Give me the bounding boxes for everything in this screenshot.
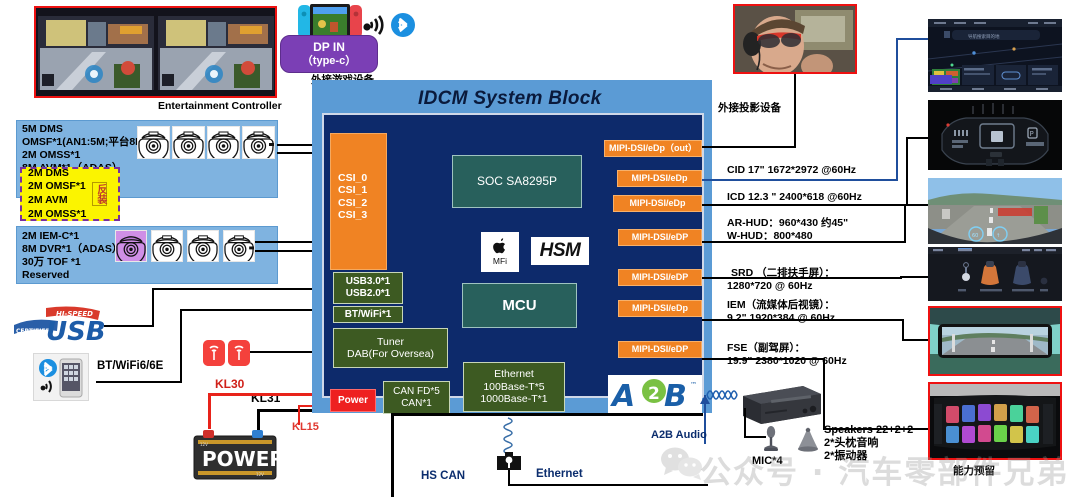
display-spec-srd-line2: 1280*720 @ 60Hz bbox=[727, 279, 813, 293]
wire-bottom-bus-horizontal bbox=[391, 413, 703, 416]
wire-srd bbox=[702, 277, 902, 279]
idcm-title: IDCM System Block bbox=[418, 88, 602, 110]
ethernet-line-2: 1000Base-T*1 bbox=[480, 393, 547, 405]
hsm-logo: HSM bbox=[531, 237, 589, 265]
speakers-line1: Speakers 22+2+2 bbox=[824, 424, 913, 437]
camera-panel-1-line-0: 5M DMS bbox=[22, 123, 63, 136]
fse-pillar-display-thumbnail bbox=[928, 382, 1062, 460]
wire-antenna bbox=[250, 351, 317, 353]
ar-glasses-user-thumbnail bbox=[733, 4, 857, 74]
mipi-port-1[interactable]: MIPI-DSI/eDp bbox=[617, 170, 702, 187]
soc-block[interactable]: SOC SA8295P bbox=[452, 155, 582, 208]
wire-iem-to-thumb bbox=[902, 339, 928, 341]
dp-in-line2: （type-c） bbox=[302, 55, 356, 69]
mic-label: MIC*4 bbox=[752, 455, 783, 468]
entertainment-controller-caption: Entertainment Controller bbox=[158, 100, 282, 112]
mipi-port-4[interactable]: MIPI-DSI/eDP bbox=[618, 269, 702, 286]
cid-display-thumbnail: 导航搜索目的地 bbox=[928, 19, 1062, 92]
svg-text:A: A bbox=[610, 379, 635, 411]
wire-ethernet-horizontal bbox=[508, 484, 708, 486]
svg-text:POWER: POWER bbox=[202, 447, 280, 471]
wire-amp-to-mic bbox=[744, 408, 746, 438]
mipi-port-5[interactable]: MIPI-DSI/eDp bbox=[618, 300, 702, 317]
usb-line-0: USB3.0*1 bbox=[346, 276, 390, 288]
entertainment-controller-thumbnail bbox=[34, 6, 277, 98]
kl15-label: KL15 bbox=[292, 421, 319, 434]
hs-can-label: HS CAN bbox=[421, 470, 465, 483]
camera-panel-1-line-2: 2M OMSS*1 bbox=[22, 149, 80, 162]
wire-usb-vertical bbox=[152, 288, 154, 327]
wire-usb-horizontal bbox=[104, 325, 154, 327]
csi-line-1: CSI_1 bbox=[338, 184, 367, 196]
icd-cluster-thumbnail: P bbox=[928, 100, 1062, 170]
wire-cid-vertical bbox=[896, 38, 898, 181]
usb-line-1: USB2.0*1 bbox=[346, 288, 390, 300]
wire-hud-vertical bbox=[904, 204, 906, 243]
camera-panel-2-line-1: 8M DVR*1（ADAS） bbox=[22, 243, 122, 256]
speakers-line3: 2*振动器 bbox=[824, 450, 867, 463]
wire-iem-vertical bbox=[902, 319, 904, 341]
camera-reverse-mount-highlight: 2M DMS 2M OMSF*1 2M AVM 2M OMSS*1 反装 bbox=[20, 167, 120, 221]
csi-line-2: CSI_2 bbox=[338, 197, 367, 209]
tuner-line-0: Tuner bbox=[377, 336, 404, 348]
camera-icon-2 bbox=[172, 126, 205, 159]
wire-kl15 bbox=[298, 405, 300, 425]
mipi-port-0[interactable]: MIPI-DSI/eDp（out） bbox=[604, 140, 702, 157]
usb-logo: HI-SPEED CERTIFIED USB bbox=[12, 305, 108, 352]
dp-in-line1: DP IN bbox=[313, 40, 345, 55]
antenna-icon-2[interactable] bbox=[228, 340, 250, 366]
wire-icd bbox=[702, 204, 908, 206]
wire-cid bbox=[702, 179, 898, 181]
speakers-line2: 2*头枕音响 bbox=[824, 437, 878, 450]
camera-icon-1 bbox=[137, 126, 170, 159]
mipi-port-3[interactable]: MIPI-DSI/eDP bbox=[618, 229, 702, 246]
wire-cid-to-thumb bbox=[896, 38, 928, 40]
a2b-arrow-icon bbox=[699, 395, 711, 405]
svg-text:™: ™ bbox=[690, 381, 697, 389]
srd-display-thumbnail bbox=[928, 247, 1062, 301]
capability-reserve-caption: 能力预留 bbox=[953, 463, 995, 478]
svg-text:60: 60 bbox=[972, 233, 978, 239]
mipi-port-6[interactable]: MIPI-DSI/eDP bbox=[618, 341, 702, 358]
camera-panel-2-line-3: Reserved bbox=[22, 269, 69, 282]
microphone-icon bbox=[760, 424, 782, 454]
display-spec-cid: CID 17" 1672*2972 @60Hz bbox=[727, 163, 856, 177]
camera-panel-2-line-0: 2M IEM-C*1 bbox=[22, 230, 79, 243]
wire-usb-top bbox=[152, 288, 336, 290]
power-block[interactable]: Power bbox=[330, 389, 376, 412]
game-screenshot-art bbox=[36, 8, 276, 96]
svg-text:↑: ↑ bbox=[996, 233, 1000, 239]
svg-text:B: B bbox=[664, 379, 687, 411]
a2b-audio-label: A2B Audio bbox=[651, 429, 707, 442]
wire-fse-vertical bbox=[823, 358, 825, 430]
btwifi-block[interactable]: BT/WiFi*1 bbox=[333, 306, 403, 323]
bluetooth-icon bbox=[390, 12, 416, 38]
wire-srd-to-thumb bbox=[900, 276, 928, 278]
wire-icd-vertical bbox=[906, 137, 908, 206]
csi-line-3: CSI_3 bbox=[338, 209, 367, 221]
can-line-1: CAN*1 bbox=[401, 398, 432, 410]
phone-bluetooth-icon bbox=[33, 353, 89, 401]
wire-fse-horizontal bbox=[702, 358, 825, 360]
highlight-line-0: 2M DMS bbox=[28, 167, 86, 181]
mfi-label: MFi bbox=[493, 256, 507, 266]
wire-projection-device-horizontal bbox=[702, 146, 796, 148]
usb-block[interactable]: USB3.0*1 USB2.0*1 bbox=[333, 272, 403, 304]
ethernet-bottom-label: Ethernet bbox=[536, 468, 583, 481]
camera-icon-3 bbox=[207, 126, 240, 159]
iem-mirror-thumbnail bbox=[928, 306, 1062, 376]
wire-icd-to-thumb bbox=[906, 137, 928, 139]
tuner-block[interactable]: Tuner DAB(For Oversea) bbox=[333, 328, 448, 368]
bt-wifi-label: BT/WiFi6/6E bbox=[97, 360, 163, 373]
battery-icon: POWER 12V 12V bbox=[190, 428, 280, 485]
camera-panel-2-line-2: 30万 TOF *1 bbox=[22, 256, 81, 269]
camera-icon-8 bbox=[223, 230, 255, 262]
tuner-line-1: DAB(For Oversea) bbox=[347, 348, 434, 360]
apple-icon bbox=[493, 238, 507, 254]
antenna-icon-1[interactable] bbox=[203, 340, 225, 366]
highlight-line-2: 2M AVM bbox=[28, 194, 86, 208]
hud-road-thumbnail: 60 ↑ bbox=[928, 178, 1062, 244]
wire-projection-device-vertical bbox=[794, 74, 796, 148]
wire-kl30-vertical bbox=[208, 393, 211, 429]
ethernet-line-0: Ethernet bbox=[494, 368, 534, 380]
camera-icon-5 bbox=[115, 230, 147, 262]
wire-btwifi-horizontal bbox=[96, 381, 182, 383]
kl30-label: KL30 bbox=[215, 378, 244, 392]
mipi-port-2[interactable]: MIPI-DSI/eDp bbox=[613, 195, 702, 212]
wire-kl31-vertical bbox=[257, 409, 260, 430]
display-spec-icd: ICD 12.3 " 2400*618 @60Hz bbox=[727, 190, 862, 204]
reverse-mount-side-label: 反装 bbox=[92, 182, 107, 206]
csi-lines: CSI_0 CSI_1 CSI_2 CSI_3 bbox=[338, 172, 367, 222]
mcu-block[interactable]: MCU bbox=[462, 283, 577, 328]
wechat-logo-icon bbox=[660, 446, 704, 480]
ar-user-art bbox=[735, 6, 855, 72]
camera-icon-4 bbox=[242, 126, 275, 159]
camera-icon-7 bbox=[187, 230, 219, 262]
svg-text:导航搜索目的地: 导航搜索目的地 bbox=[968, 33, 1000, 40]
svg-text:12V: 12V bbox=[256, 472, 264, 477]
wire-hscan-vertical bbox=[391, 413, 394, 497]
dp-in-type-c-node[interactable]: DP IN （type-c） bbox=[280, 35, 378, 73]
a2b-logo: A 2 B ™ bbox=[608, 375, 702, 413]
wire-hud bbox=[702, 241, 906, 243]
wire-hud-to-thumb bbox=[904, 204, 928, 206]
hsm-label: HSM bbox=[540, 240, 581, 262]
svg-text:P: P bbox=[1030, 130, 1034, 138]
wire-btwifi-vertical bbox=[180, 309, 182, 383]
mfi-logo: MFi bbox=[481, 232, 519, 272]
csi-port-block[interactable]: CSI_0 CSI_1 CSI_2 CSI_3 bbox=[330, 133, 387, 270]
wire-iem bbox=[702, 319, 904, 321]
external-projection-device-caption: 外接投影设备 bbox=[718, 100, 781, 115]
camera-icon-6 bbox=[151, 230, 183, 262]
camera-panel-1-line-1: OMSF*1(AN1:5M;平台8M) bbox=[22, 136, 147, 149]
svg-text:USB: USB bbox=[46, 317, 106, 347]
wireless-signal-icon bbox=[362, 12, 388, 36]
highlight-lines: 2M DMS 2M OMSF*1 2M AVM 2M OMSS*1 bbox=[22, 167, 86, 222]
speaker-icon bbox=[795, 425, 821, 453]
csi-line-0: CSI_0 bbox=[338, 172, 367, 184]
ethernet-line-1: 100Base-T*5 bbox=[483, 381, 544, 393]
highlight-line-1: 2M OMSF*1 bbox=[28, 180, 86, 194]
highlight-line-3: 2M OMSS*1 bbox=[28, 208, 86, 222]
svg-text:12V: 12V bbox=[200, 442, 208, 447]
ethernet-block[interactable]: Ethernet 100Base-T*5 1000Base-T*1 bbox=[463, 362, 565, 412]
can-block[interactable]: CAN FD*5 CAN*1 bbox=[383, 381, 450, 414]
display-spec-fse-line2: 19.9" 2380*1020 @ 60Hz bbox=[727, 354, 847, 368]
a2b-logo-art: A 2 B ™ bbox=[610, 377, 700, 411]
svg-text:2: 2 bbox=[648, 384, 660, 404]
can-line-0: CAN FD*5 bbox=[393, 386, 440, 398]
